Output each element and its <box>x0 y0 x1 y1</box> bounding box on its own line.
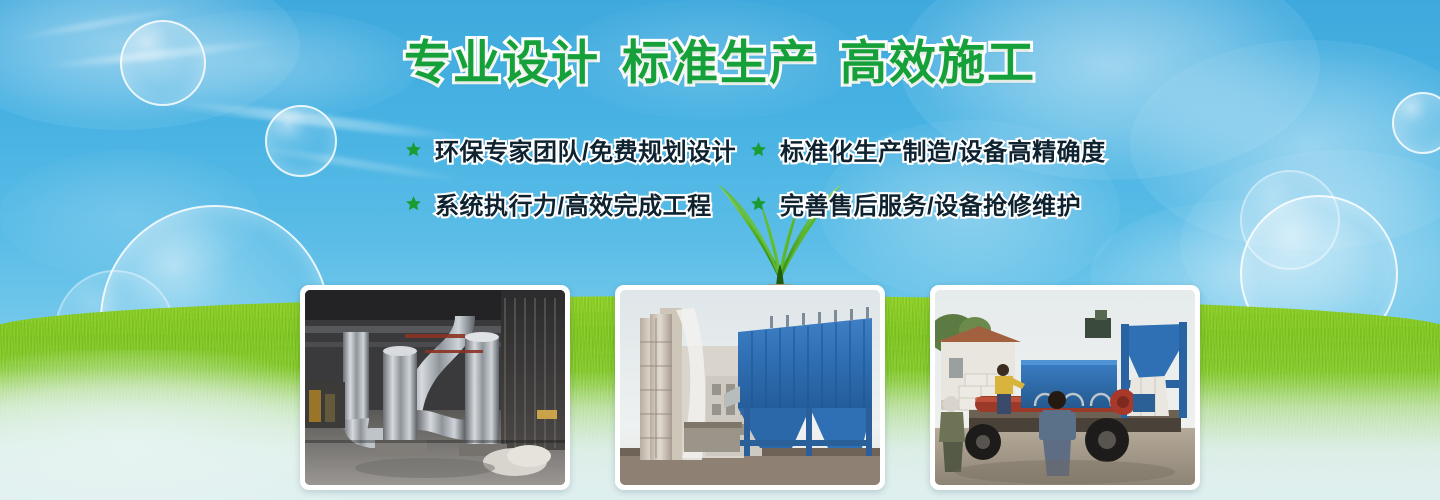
feature-bullet-list: 环保专家团队/免费规划设计 标准化生产制造/设备高精确度 系统执行力/高效完成工… <box>405 122 1105 230</box>
photo-frame <box>305 290 565 485</box>
photo-frame <box>935 290 1195 485</box>
page-title: 专业设计标准生产高效施工 <box>0 38 1440 87</box>
star-icon <box>405 195 422 212</box>
bullet-label: 环保专家团队/免费规划设计 <box>435 132 736 167</box>
star-icon <box>750 141 767 158</box>
bullet-item-3: 系统执行力/高效完成工程 <box>405 186 750 221</box>
promo-banner: 专业设计标准生产高效施工 环保专家团队/免费规划设计 标准化生产制造/设备高精确… <box>0 0 1440 500</box>
bullet-label: 系统执行力/高效完成工程 <box>435 186 712 221</box>
bullet-label: 完善售后服务/设备抢修维护 <box>780 186 1081 221</box>
star-icon <box>750 195 767 212</box>
headline-part-3: 高效施工 <box>840 36 1036 89</box>
bullet-label: 标准化生产制造/设备高精确度 <box>780 132 1106 167</box>
photo-dust-collector[interactable] <box>615 285 885 490</box>
photo-industrial-ducting[interactable] <box>300 285 570 490</box>
photo-frame <box>620 290 880 485</box>
headline-part-2: 标准生产 <box>622 36 818 89</box>
photo-equipment-delivery[interactable] <box>930 285 1200 490</box>
bullet-item-2: 标准化生产制造/设备高精确度 <box>750 132 1090 167</box>
star-icon <box>405 141 422 158</box>
bullet-row: 系统执行力/高效完成工程 完善售后服务/设备抢修维护 <box>405 176 1105 230</box>
bullet-item-4: 完善售后服务/设备抢修维护 <box>750 186 1090 221</box>
headline-part-1: 专业设计 <box>404 36 600 89</box>
bullet-row: 环保专家团队/免费规划设计 标准化生产制造/设备高精确度 <box>405 122 1105 176</box>
bullet-item-1: 环保专家团队/免费规划设计 <box>405 132 750 167</box>
